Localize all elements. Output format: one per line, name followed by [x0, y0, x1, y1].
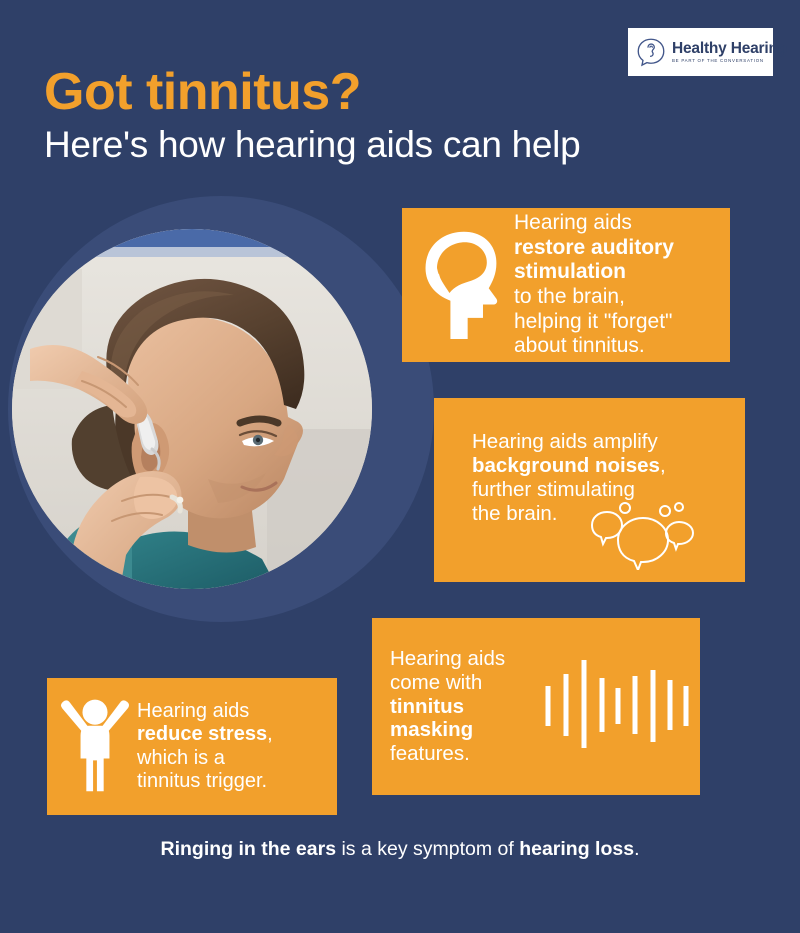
- card-brain-line-5: helping it "forget": [514, 310, 673, 333]
- card-stress-text: Hearing aids reduce stress, which is a t…: [137, 700, 273, 794]
- card-masking-line-4: masking: [390, 718, 473, 741]
- page-title: Got tinnitus?: [44, 66, 744, 118]
- card-stress-line-2: reduce stress: [137, 723, 267, 745]
- footer-end: .: [634, 838, 639, 860]
- footer-mid: is a key symptom of: [336, 838, 519, 860]
- footer-caption: Ringing in the ears is a key symptom of …: [0, 838, 800, 861]
- card-bubbles-line-3: further stimulating: [472, 478, 635, 501]
- hearing-aid-fitting-photo: [12, 229, 372, 589]
- card-restore-auditory-stimulation[interactable]: Hearing aids restore auditory stimulatio…: [402, 208, 730, 362]
- sound-wave-bars-icon: [542, 654, 692, 759]
- card-brain-text: Hearing aids restore auditory stimulatio…: [514, 211, 674, 358]
- infographic-canvas: Healthy Hearing BE PART OF THE CONVERSAT…: [0, 0, 800, 933]
- card-stress-line-3: which is a: [137, 747, 225, 769]
- card-masking-line-1: Hearing aids: [390, 647, 505, 670]
- card-bubbles-line-2: background noises: [472, 454, 660, 477]
- card-bubbles-line-1: Hearing aids amplify: [472, 430, 658, 453]
- footer-bold-2: hearing loss: [519, 838, 634, 860]
- logo-name: Healthy Hearing: [672, 41, 787, 57]
- ear-speech-bubble-icon: [636, 37, 666, 67]
- card-brain-line-3: stimulation: [514, 260, 626, 283]
- card-bubbles-line-2-tail: ,: [660, 454, 666, 477]
- card-brain-line-1: Hearing aids: [514, 211, 632, 234]
- card-masking-line-3: tinnitus: [390, 695, 464, 718]
- card-reduce-stress[interactable]: Hearing aids reduce stress, which is a t…: [47, 678, 337, 815]
- speech-bubbles-icon: [584, 502, 702, 570]
- card-background-noises[interactable]: Hearing aids amplify background noises, …: [434, 398, 745, 582]
- card-masking-line-5: features.: [390, 742, 470, 765]
- card-brain-line-4: to the brain,: [514, 285, 625, 308]
- head-brain-icon: [412, 226, 508, 344]
- card-brain-line-6: about tinnitus.: [514, 334, 645, 357]
- card-stress-line-4: tinnitus trigger.: [137, 770, 267, 792]
- card-bubbles-line-4: the brain.: [472, 502, 557, 525]
- logo-tagline: BE PART OF THE CONVERSATION: [672, 59, 787, 63]
- card-stress-line-1: Hearing aids: [137, 700, 249, 722]
- logo-text-block: Healthy Hearing BE PART OF THE CONVERSAT…: [672, 41, 787, 64]
- footer-bold-1: Ringing in the ears: [161, 838, 337, 860]
- card-brain-line-2: restore auditory: [514, 236, 674, 259]
- card-tinnitus-masking[interactable]: Hearing aids come with tinnitus masking …: [372, 618, 700, 795]
- page-subtitle: Here's how hearing aids can help: [44, 126, 744, 165]
- person-arms-raised-icon: [53, 691, 137, 802]
- card-stress-line-2-tail: ,: [267, 723, 273, 745]
- headline-block: Got tinnitus? Here's how hearing aids ca…: [44, 66, 744, 165]
- card-masking-text: Hearing aids come with tinnitus masking …: [390, 647, 540, 767]
- card-masking-line-2: come with: [390, 671, 482, 694]
